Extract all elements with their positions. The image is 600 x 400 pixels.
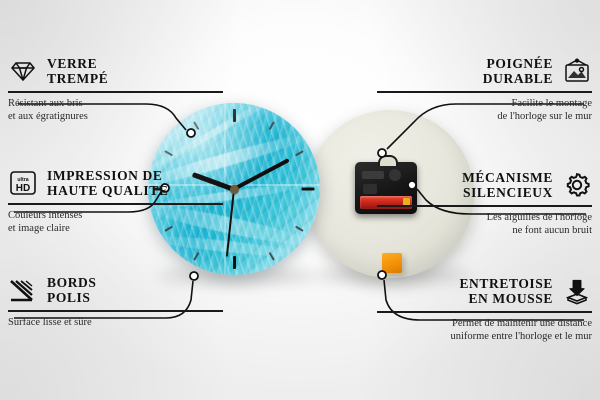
feature-title-line2: HAUTE QUALITÉ: [47, 183, 168, 198]
feature-divider: [377, 311, 592, 313]
feature-title-line1: VERRE: [47, 56, 97, 71]
feature-desc-line2: ne font aucun bruit: [512, 225, 592, 236]
feature-desc-line1: Facilite le montage: [512, 98, 592, 109]
feature-desc-line1: Permet de maintenir une distance: [452, 318, 592, 329]
feature-title-line1: ENTRETOISE: [459, 276, 553, 291]
feature-desc-line2: et aux égratignures: [8, 111, 88, 122]
feature-mecanisme-silencieux: MÉCANISME SILENCIEUX Les aiguilles de l'…: [377, 170, 592, 237]
feature-desc-line2: et image claire: [8, 223, 70, 234]
feature-desc-line1: Surface lisse et sûre: [8, 317, 92, 328]
feature-desc-line1: Résistant aux bris: [8, 98, 83, 109]
feature-desc-line2: uniforme entre l'horloge et le mur: [450, 331, 592, 342]
feature-divider: [377, 91, 592, 93]
ultra-hd-badge-icon: ultra HD: [8, 168, 38, 198]
mechanism-detail-2: [363, 184, 377, 194]
gear-icon: [562, 170, 592, 200]
feature-desc-line1: Les aiguilles de l'horloge: [487, 212, 592, 223]
feature-title-line1: IMPRESSION DE: [47, 168, 162, 183]
feature-verre-trempe: VERRE TREMPÉ Résistant aux bris et aux é…: [8, 56, 223, 123]
diagonal-lines-icon: [8, 275, 38, 305]
feature-divider: [8, 91, 223, 93]
feature-title-line2: POLIS: [47, 290, 91, 305]
feature-entretoise-en-mousse: ENTRETOISE EN MOUSSE Permet de maintenir…: [377, 276, 592, 343]
feature-desc-line1: Couleurs intenses: [8, 210, 82, 221]
feature-title-line1: MÉCANISME: [462, 170, 553, 185]
feature-title-line2: DURABLE: [483, 71, 553, 86]
feature-title-line2: TREMPÉ: [47, 71, 108, 86]
feature-impression-haute-qualite: ultra HD IMPRESSION DE HAUTE QUALITÉ Cou…: [8, 168, 223, 235]
feature-title-line1: BORDS: [47, 275, 97, 290]
feature-divider: [8, 203, 223, 205]
feature-title-line2: SILENCIEUX: [463, 185, 553, 200]
arrow-down-onto-pad-icon: [562, 276, 592, 306]
feature-poignee-durable: POIGNÉE DURABLE Facilite le montage de l…: [377, 56, 592, 123]
foam-spacer-pad: [382, 253, 402, 273]
hanger-loop: [378, 155, 398, 166]
feature-title-line2: EN MOUSSE: [468, 291, 553, 306]
infographic-canvas: VERRE TREMPÉ Résistant aux bris et aux é…: [0, 0, 600, 400]
feature-desc-line2: de l'horloge sur le mur: [497, 111, 592, 122]
feature-title-line1: POIGNÉE: [487, 56, 553, 71]
feature-divider: [377, 205, 592, 207]
diamond-icon: [8, 56, 38, 86]
svg-text:HD: HD: [16, 183, 30, 194]
feature-divider: [8, 310, 223, 312]
hanging-picture-frame-icon: [562, 56, 592, 86]
feature-bords-polis: BORDS POLIS Surface lisse et sûre: [8, 275, 223, 330]
